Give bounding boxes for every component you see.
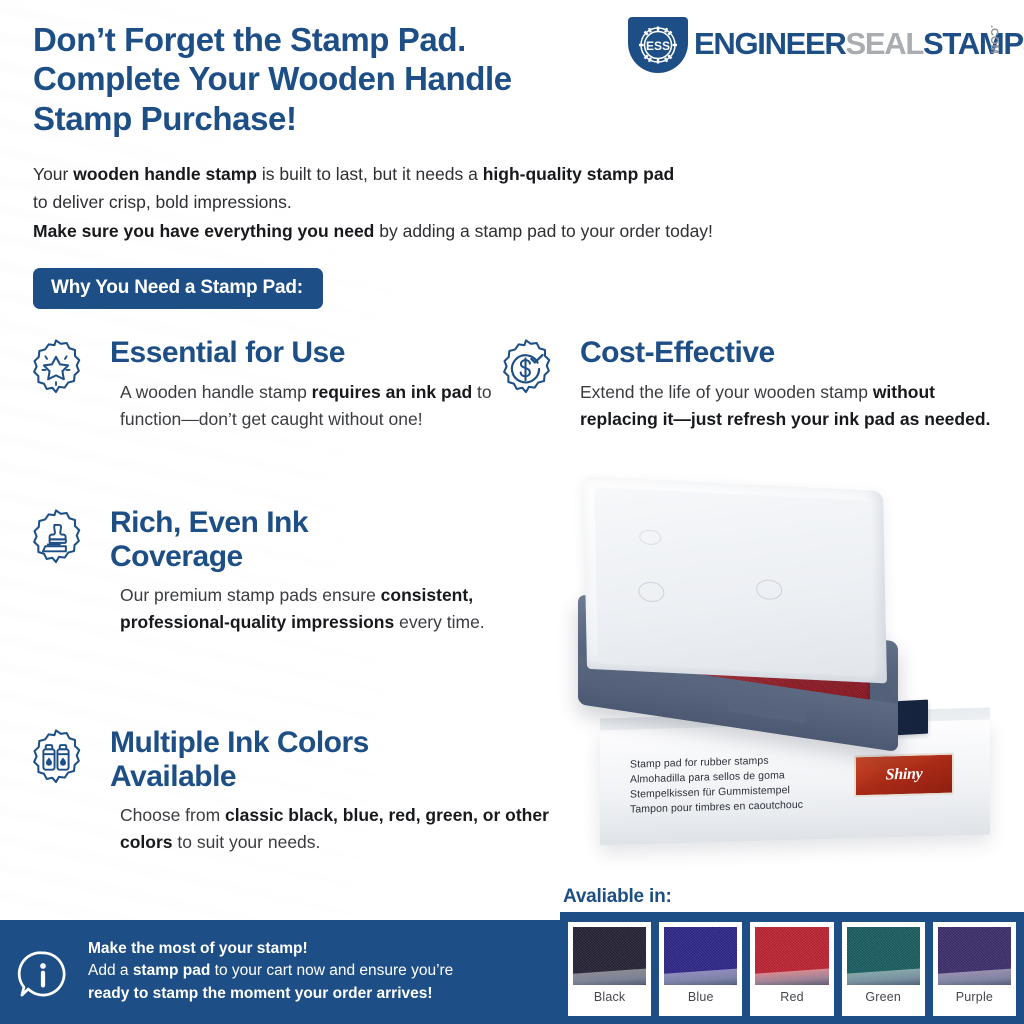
feature-body-c: every time. <box>394 612 484 632</box>
color-swatch-strip: Black Blue Red Green Purple <box>560 912 1024 1024</box>
feature-title: Essential for Use <box>110 336 495 370</box>
feature-body: Choose from classic black, blue, red, gr… <box>120 802 550 856</box>
lid-dimple <box>638 581 664 602</box>
headline-line-3: Stamp Purchase! <box>33 99 653 138</box>
available-in-title: Avaliable in: <box>563 886 672 908</box>
color-swatch-black[interactable]: Black <box>568 922 651 1016</box>
swatch-label: Green <box>847 985 920 1008</box>
intro-line-2: to deliver crisp, bold impressions. <box>33 188 898 216</box>
lid-dimple <box>639 529 661 545</box>
cta-2b: stamp pad <box>133 962 211 979</box>
rubber-stamp-badge-icon <box>25 508 87 570</box>
cta-line-2: Add a stamp pad to your cart now and ens… <box>88 960 550 982</box>
feature-body-c: to suit your needs. <box>173 832 321 852</box>
section-pill-why-you-need: Why You Need a Stamp Pad: <box>33 268 323 309</box>
feature-multiple-ink-colors: Multiple Ink ColorsAvailable Choose from… <box>25 726 555 856</box>
lid-dimple <box>756 579 782 600</box>
feature-cost-effective: Cost-Effective Extend the life of your w… <box>495 336 995 433</box>
feature-title-line-1: Multiple Ink Colors <box>110 726 369 759</box>
feature-title: Cost-Effective <box>580 336 995 370</box>
logo-dotcom: .COM <box>988 25 1000 54</box>
cta-line-1: Make the most of your stamp! <box>88 938 550 960</box>
shiny-brand-logo: Shiny <box>854 753 954 798</box>
feature-title-line-2: Coverage <box>110 540 243 573</box>
feature-body-a: Extend the life of your wooden stamp <box>580 382 873 402</box>
headline-line-2: Complete Your Wooden Handle <box>33 59 653 98</box>
logo-word-seal: SEAL <box>846 26 923 61</box>
feature-body-a: Our premium stamp pads ensure <box>120 585 381 605</box>
swatch-photo <box>847 927 920 985</box>
intro-1b: wooden handle stamp <box>73 164 257 184</box>
stamp-pad-lid <box>583 477 887 684</box>
brand-logo[interactable]: ESS ENGINEERSEALSTAMPS .COM <box>628 17 1018 73</box>
logo-word-stamps: STAMPS <box>923 26 1024 61</box>
intro-3b: by adding a stamp pad to your order toda… <box>374 221 713 241</box>
feature-title-line-1: Rich, Even Ink <box>110 506 308 539</box>
feature-body-b: requires an ink pad <box>312 382 472 402</box>
headline-line-1: Don’t Forget the Stamp Pad. <box>33 20 653 59</box>
swatch-photo <box>938 927 1011 985</box>
gear-seal-icon: ESS <box>634 25 682 65</box>
intro-1d: high-quality stamp pad <box>483 164 675 184</box>
swatch-photo <box>573 927 646 985</box>
feature-body-a: A wooden handle stamp <box>120 382 312 402</box>
feature-body-a: Choose from <box>120 805 225 825</box>
intro-paragraph: Your wooden handle stamp is built to las… <box>33 160 898 245</box>
ink-bottles-badge-icon <box>25 728 87 790</box>
infographic-page: Don’t Forget the Stamp Pad. Complete You… <box>0 0 1024 1024</box>
swatch-label: Blue <box>664 985 737 1008</box>
intro-line-1: Your wooden handle stamp is built to las… <box>33 160 898 188</box>
feature-title: Rich, Even InkCoverage <box>110 506 495 573</box>
color-swatch-red[interactable]: Red <box>750 922 833 1016</box>
feature-title-line-2: Available <box>110 760 236 793</box>
bottom-cta-text: Make the most of your stamp! Add a stamp… <box>88 938 550 1005</box>
color-swatch-blue[interactable]: Blue <box>659 922 742 1016</box>
feature-body: A wooden handle stamp requires an ink pa… <box>120 379 495 433</box>
cta-2c: to your cart now and ensure you’re <box>210 962 453 979</box>
stamp-pad-lid-inner <box>594 487 875 677</box>
intro-1c: is built to last, but it needs a <box>257 164 483 184</box>
swatch-photo <box>664 927 737 985</box>
shiny-brand-text: Shiny <box>886 765 923 784</box>
color-swatch-purple[interactable]: Purple <box>933 922 1016 1016</box>
intro-3a: Make sure you have everything you need <box>33 221 374 241</box>
star-badge-icon <box>25 338 87 400</box>
feature-body: Extend the life of your wooden stamp wit… <box>580 379 995 433</box>
color-swatch-green[interactable]: Green <box>842 922 925 1016</box>
page-title: Don’t Forget the Stamp Pad. Complete You… <box>33 20 653 138</box>
cta-3: ready to stamp the moment your order arr… <box>88 985 433 1002</box>
product-box: Stamp pad for rubber stamps Almohadilla … <box>600 720 990 846</box>
logo-word-engineer: ENGINEER <box>694 26 846 61</box>
intro-line-3: Make sure you have everything you need b… <box>33 217 898 245</box>
feature-rich-even-ink-coverage: Rich, Even InkCoverage Our premium stamp… <box>25 506 495 636</box>
product-box-text: Stamp pad for rubber stamps Almohadilla … <box>630 753 803 817</box>
info-bubble-icon <box>16 947 70 1001</box>
swatch-label: Black <box>573 985 646 1008</box>
feature-body: Our premium stamp pads ensure consistent… <box>120 582 485 636</box>
swatch-label: Purple <box>938 985 1011 1008</box>
swatch-label: Red <box>755 985 828 1008</box>
cta-line-3: ready to stamp the moment your order arr… <box>88 983 550 1005</box>
cta-2a: Add a <box>88 962 133 979</box>
feature-title: Multiple Ink ColorsAvailable <box>110 726 555 793</box>
swatch-photo <box>755 927 828 985</box>
logo-mark-text: ESS <box>646 39 670 53</box>
intro-1a: Your <box>33 164 73 184</box>
logo-wordmark: ENGINEERSEALSTAMPS <box>694 23 1024 65</box>
feature-essential-for-use: Essential for Use A wooden handle stamp … <box>25 336 495 433</box>
product-photo-stamp-pad: Stamp pad for rubber stamps Almohadilla … <box>560 470 1024 890</box>
dollar-check-badge-icon <box>495 338 557 400</box>
